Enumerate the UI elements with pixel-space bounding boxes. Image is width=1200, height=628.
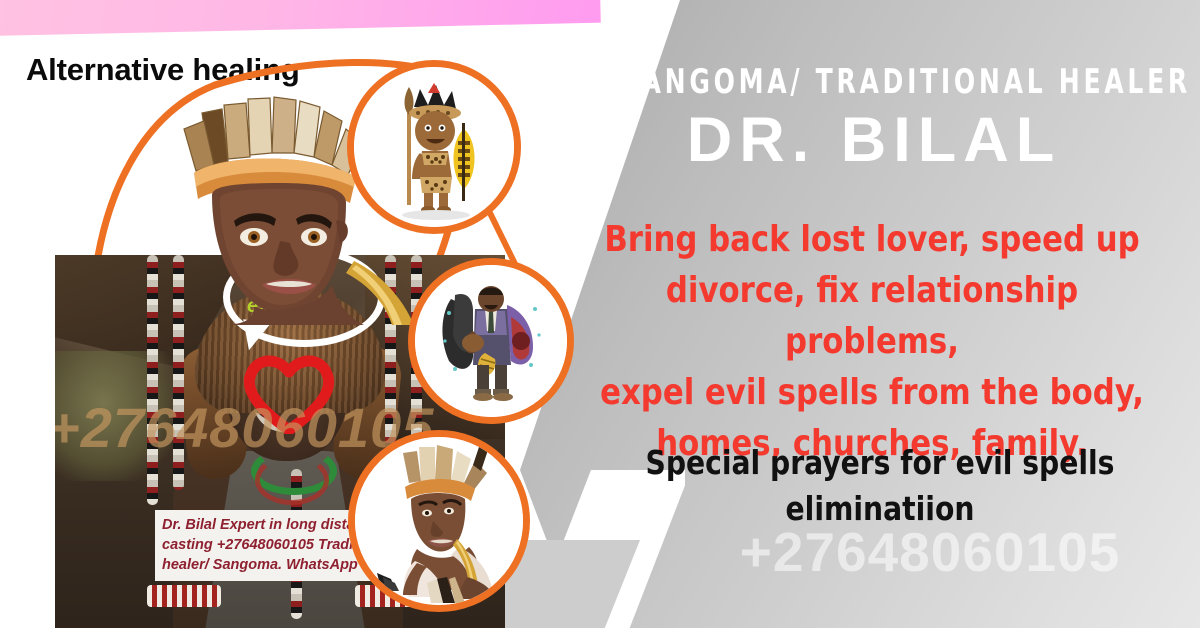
red-neck-beads [255, 455, 329, 505]
pink-accent-band [0, 0, 601, 36]
kicker-text: SANGOMA/ TRADITIONAL HEALER [620, 62, 1128, 102]
special-prayers-text: Special prayers for evil spells eliminat… [595, 440, 1165, 532]
services-line-3: expel evil spells from the body, [574, 367, 1171, 418]
circle-zulu-warrior [347, 60, 521, 234]
zulu-warrior-icon [354, 67, 514, 227]
ghost-phone-number: +27648060105 [650, 520, 1200, 584]
services-line-2: divorce, fix relationship problems, [574, 265, 1171, 367]
right-text-column: SANGOMA/ TRADITIONAL HEALER DR. BILAL Br… [540, 0, 1190, 628]
special-line-1: Special prayers for evil spells [595, 440, 1165, 486]
brand-name: DR. BILAL [564, 104, 1184, 176]
poster-canvas: Alternative healing [0, 0, 1200, 628]
wrist-cuff-left [147, 585, 221, 607]
circle-kneeling-sangoma [348, 430, 530, 612]
services-line-1: Bring back lost lover, speed up [574, 214, 1171, 265]
services-text: Bring back lost lover, speed up divorce,… [574, 214, 1171, 469]
kneeling-sangoma-icon [355, 437, 523, 605]
